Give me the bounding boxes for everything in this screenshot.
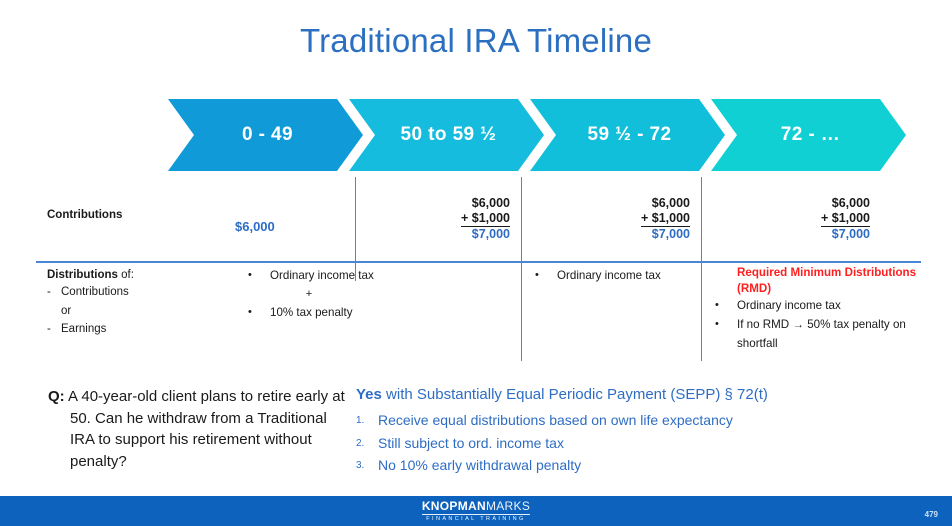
brand-wordmark: KNOPMANMARKS — [0, 500, 952, 512]
brand-name-light: MARKS — [486, 499, 530, 513]
distributions-row-label: Distributions of: — [47, 267, 134, 284]
contributions-col0-value: $6,000 — [235, 219, 275, 234]
answer-list-item: 3.No 10% early withdrawal penalty — [356, 454, 926, 477]
contrib-base-3: $6,000 — [740, 196, 870, 211]
distributions-item-0: Contributions — [61, 283, 129, 302]
contrib-catchup-3: + $1,000 — [821, 211, 870, 227]
distributions-col3-bullet-0: Ordinary income tax — [737, 297, 841, 316]
timeline-stage-3: 72 - … — [711, 99, 906, 171]
bullet-marker-c1-0: • — [248, 267, 270, 285]
question-label: Q: — [48, 388, 65, 405]
contrib-total-2: $7,000 — [560, 227, 690, 242]
contrib-total-1: $7,000 — [380, 227, 510, 242]
column-divider-2-lower — [521, 263, 522, 361]
timeline-chevrons: 0 - 49 50 to 59 ½ 59 ½ - 72 72 - … — [0, 99, 952, 171]
answer-number-3: 3. — [356, 454, 378, 474]
distributions-col2-bullet-0: Ordinary income tax — [557, 267, 661, 286]
distributions-col3: Required Minimum Distributions (RMD) •Or… — [715, 265, 920, 354]
timeline-stage-3-label: 72 - … — [777, 124, 840, 146]
contributions-row-label: Contributions — [47, 207, 122, 224]
dash-marker-1: - — [47, 283, 61, 302]
contrib-base-1: $6,000 — [380, 196, 510, 211]
footer-bar: KNOPMANMARKS FINANCIAL TRAINING 479 — [0, 496, 952, 526]
bullet-marker-c1-1: • — [248, 304, 270, 322]
contributions-col1-stack: $6,000 + $1,000 $7,000 — [380, 196, 510, 241]
distributions-col2: •Ordinary income tax — [535, 267, 700, 286]
answer-lead: Yes — [356, 386, 382, 403]
bullet-marker-c3-0: • — [715, 297, 737, 315]
question-text: A 40-year-old client plans to retire ear… — [68, 388, 345, 470]
timeline-stage-1: 50 to 59 ½ — [349, 99, 544, 171]
distributions-col1-bullet-0: Ordinary income tax — [270, 267, 374, 286]
brand-divider — [422, 514, 530, 515]
slide: Traditional IRA Timeline 0 - 49 50 to 59… — [0, 0, 952, 526]
answer-list-item: 1.Receive equal distributions based on o… — [356, 409, 926, 432]
answer-list-item: 2.Still subject to ord. income tax — [356, 432, 926, 455]
column-divider-3-lower — [701, 263, 702, 361]
answer-list: 1.Receive equal distributions based on o… — [356, 409, 926, 477]
bullet-marker-c3-1: • — [715, 316, 737, 334]
timeline-stage-0-label: 0 - 49 — [238, 124, 293, 146]
timeline-stage-1-label: 50 to 59 ½ — [397, 124, 497, 146]
timeline-stage-2-label: 59 ½ - 72 — [584, 124, 672, 146]
answer-number-2: 2. — [356, 432, 378, 452]
distributions-item-1: or — [47, 302, 197, 321]
answer-item-0: Receive equal distributions based on own… — [378, 409, 733, 432]
timeline-stage-2: 59 ½ - 72 — [530, 99, 725, 171]
brand-logo: KNOPMANMARKS FINANCIAL TRAINING — [0, 500, 952, 522]
answer-rest: with Substantially Equal Periodic Paymen… — [382, 386, 768, 403]
contrib-total-3: $7,000 — [740, 227, 870, 242]
distributions-items: -Contributions or -Earnings — [47, 283, 197, 339]
column-divider-3 — [701, 177, 702, 261]
distributions-col1-bullet-1: 10% tax penalty — [270, 304, 353, 323]
distributions-col3-bullet-1: If no RMD → 50% tax penalty on shortfall — [737, 316, 920, 354]
question-text-wrap: Q: A 40-year-old client plans to retire … — [48, 386, 348, 472]
distributions-label-rest: of: — [118, 269, 134, 281]
contrib-catchup-1: + $1,000 — [461, 211, 510, 227]
timeline-table: Contributions $6,000 $6,000 + $1,000 $7,… — [0, 171, 952, 376]
distributions-label-bold: Distributions — [47, 269, 118, 281]
contrib-catchup-2: + $1,000 — [641, 211, 690, 227]
contrib-base-2: $6,000 — [560, 196, 690, 211]
timeline-stage-0: 0 - 49 — [168, 99, 363, 171]
question-block: Q: A 40-year-old client plans to retire … — [48, 386, 348, 472]
distributions-item-2: Earnings — [61, 320, 106, 339]
column-divider-2 — [521, 177, 522, 261]
dash-marker-2: - — [47, 320, 61, 339]
page-title: Traditional IRA Timeline — [0, 22, 952, 60]
distributions-col1: •Ordinary income tax + •10% tax penalty — [248, 267, 408, 322]
row-divider — [36, 261, 921, 263]
contributions-col2-stack: $6,000 + $1,000 $7,000 — [560, 196, 690, 241]
brand-tagline: FINANCIAL TRAINING — [0, 517, 952, 523]
answer-number-1: 1. — [356, 409, 378, 429]
rmd-heading: Required Minimum Distributions (RMD) — [715, 265, 920, 296]
column-divider-1 — [355, 177, 356, 261]
distributions-col1-connector: + — [248, 286, 370, 304]
question-answer-section: Q: A 40-year-old client plans to retire … — [0, 380, 952, 490]
answer-item-1: Still subject to ord. income tax — [378, 432, 564, 455]
answer-heading: Yes with Substantially Equal Periodic Pa… — [356, 384, 926, 405]
answer-block: Yes with Substantially Equal Periodic Pa… — [356, 384, 926, 477]
page-number: 479 — [925, 510, 938, 519]
bullet-marker-c2-0: • — [535, 267, 557, 285]
brand-name-bold: KNOPMAN — [422, 499, 486, 513]
contributions-col3-stack: $6,000 + $1,000 $7,000 — [740, 196, 870, 241]
answer-item-2: No 10% early withdrawal penalty — [378, 454, 581, 477]
